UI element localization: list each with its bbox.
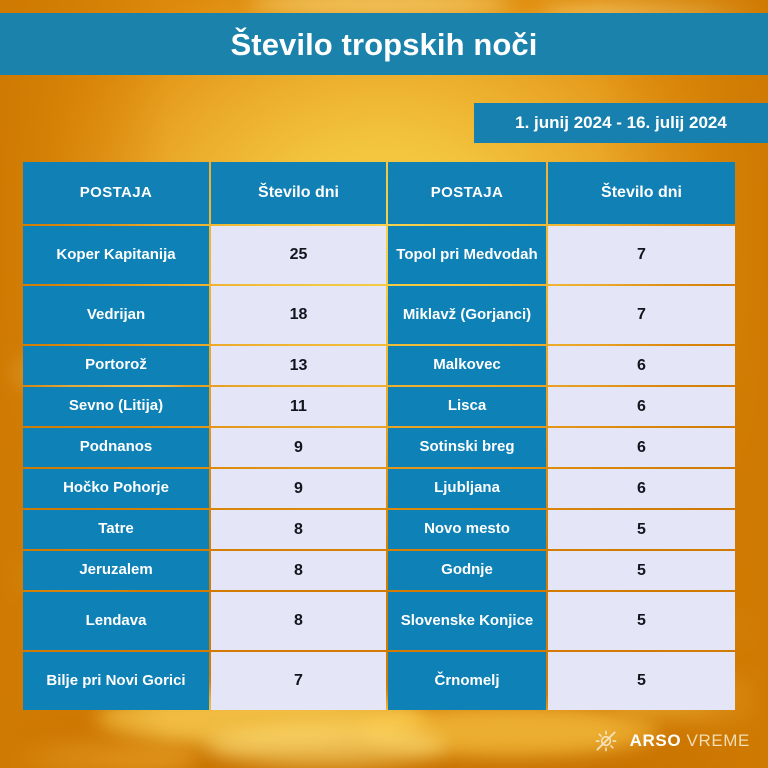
station-name-right: Malkovec: [388, 346, 546, 385]
days-value-left: 8: [211, 551, 386, 590]
brand-arso: ARSO: [630, 731, 682, 750]
station-name-right: Godnje: [388, 551, 546, 590]
column-header-days-right: Število dni: [548, 162, 735, 224]
station-name-left: Koper Kapitanija: [23, 226, 209, 284]
days-value-left: 7: [211, 652, 386, 710]
station-name-left: Sevno (Litija): [23, 387, 209, 426]
station-name-right: Topol pri Medvodah: [388, 226, 546, 284]
station-name-left: Bilje pri Novi Gorici: [23, 652, 209, 710]
days-value-left: 13: [211, 346, 386, 385]
days-value-right: 7: [548, 226, 735, 284]
table-header-row: POSTAJA Število dni POSTAJA Število dni: [23, 162, 745, 224]
table-row: Koper Kapitanija25Topol pri Medvodah7: [23, 226, 745, 284]
table-row: Jeruzalem8Godnje5: [23, 551, 745, 590]
station-name-right: Novo mesto: [388, 510, 546, 549]
sun-icon: [593, 728, 619, 754]
page-title: Število tropskih noči: [231, 29, 538, 60]
station-name-right: Ljubljana: [388, 469, 546, 508]
days-value-left: 8: [211, 510, 386, 549]
days-value-left: 8: [211, 592, 386, 650]
station-name-right: Miklavž (Gorjanci): [388, 286, 546, 344]
table-row: Bilje pri Novi Gorici7Črnomelj5: [23, 652, 745, 710]
table-row: Vedrijan18Miklavž (Gorjanci)7: [23, 286, 745, 344]
title-bar: Število tropskih noči: [0, 13, 768, 75]
days-value-right: 5: [548, 510, 735, 549]
column-header-days-left: Število dni: [211, 162, 386, 224]
days-value-right: 6: [548, 387, 735, 426]
brand-text: ARSO VREME: [630, 731, 750, 751]
table-row: Lendava8Slovenske Konjice5: [23, 592, 745, 650]
days-value-right: 6: [548, 469, 735, 508]
table-row: Tatre8Novo mesto5: [23, 510, 745, 549]
station-name-left: Podnanos: [23, 428, 209, 467]
days-value-left: 18: [211, 286, 386, 344]
days-value-left: 9: [211, 428, 386, 467]
table-row: Podnanos9Sotinski breg6: [23, 428, 745, 467]
days-value-right: 6: [548, 428, 735, 467]
days-value-right: 6: [548, 346, 735, 385]
station-name-left: Lendava: [23, 592, 209, 650]
days-value-left: 11: [211, 387, 386, 426]
station-name-right: Črnomelj: [388, 652, 546, 710]
date-range-label: 1. junij 2024 - 16. julij 2024: [515, 113, 727, 133]
table-row: Hočko Pohorje9Ljubljana6: [23, 469, 745, 508]
table-row: Sevno (Litija)11Lisca6: [23, 387, 745, 426]
days-value-left: 9: [211, 469, 386, 508]
station-name-left: Portorož: [23, 346, 209, 385]
days-value-right: 5: [548, 652, 735, 710]
table-row: Portorož13Malkovec6: [23, 346, 745, 385]
brand-vreme: VREME: [687, 731, 750, 750]
column-header-station-right: POSTAJA: [388, 162, 546, 224]
station-name-left: Vedrijan: [23, 286, 209, 344]
footer-brand: ARSO VREME: [593, 728, 750, 754]
station-name-left: Jeruzalem: [23, 551, 209, 590]
tropical-nights-table: POSTAJA Število dni POSTAJA Število dni …: [23, 162, 745, 712]
station-name-left: Tatre: [23, 510, 209, 549]
days-value-right: 7: [548, 286, 735, 344]
station-name-left: Hočko Pohorje: [23, 469, 209, 508]
column-header-station-left: POSTAJA: [23, 162, 209, 224]
days-value-right: 5: [548, 592, 735, 650]
station-name-right: Sotinski breg: [388, 428, 546, 467]
station-name-right: Slovenske Konjice: [388, 592, 546, 650]
days-value-left: 25: [211, 226, 386, 284]
days-value-right: 5: [548, 551, 735, 590]
station-name-right: Lisca: [388, 387, 546, 426]
date-range-badge: 1. junij 2024 - 16. julij 2024: [474, 103, 768, 143]
